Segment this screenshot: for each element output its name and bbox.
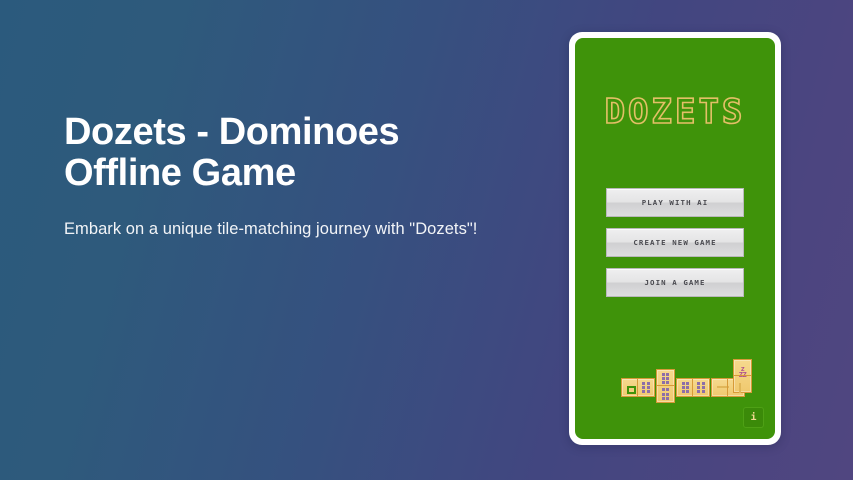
hero-section: Dozets - Dominoes Offline Game Embark on… bbox=[64, 112, 534, 239]
pip bbox=[686, 382, 689, 385]
pip bbox=[666, 373, 669, 376]
phone-mockup: DOZETS PLAY WITH AI CREATE NEW GAME JOIN… bbox=[569, 32, 781, 445]
pip bbox=[702, 386, 705, 389]
pip bbox=[697, 386, 700, 389]
page-subtitle: Embark on a unique tile-matching journey… bbox=[64, 220, 534, 239]
tile-half-blank bbox=[734, 375, 751, 392]
pip bbox=[686, 390, 689, 393]
pip bbox=[647, 386, 650, 389]
tile-half-six bbox=[637, 379, 654, 396]
pip bbox=[666, 397, 669, 400]
pip bbox=[702, 382, 705, 385]
pip bbox=[642, 386, 645, 389]
pip bbox=[686, 386, 689, 389]
pip bbox=[642, 390, 645, 393]
main-menu: PLAY WITH AI CREATE NEW GAME JOIN A GAME bbox=[606, 188, 744, 308]
pip bbox=[666, 381, 669, 384]
pip bbox=[702, 390, 705, 393]
pip bbox=[662, 377, 665, 380]
pip bbox=[666, 388, 669, 391]
blank-bar bbox=[739, 383, 741, 393]
pip bbox=[647, 390, 650, 393]
domino-tile-six-six bbox=[676, 378, 710, 397]
domino-tile-six-six-vertical bbox=[656, 369, 675, 403]
pip bbox=[697, 390, 700, 393]
tile-half-six bbox=[657, 385, 674, 402]
pip bbox=[666, 377, 669, 380]
pip bbox=[662, 381, 665, 384]
pip bbox=[697, 382, 700, 385]
pip bbox=[662, 397, 665, 400]
pip bbox=[642, 382, 645, 385]
create-new-game-button[interactable]: CREATE NEW GAME bbox=[606, 228, 744, 257]
tile-half-six bbox=[692, 379, 709, 396]
zz-symbol-icon: zZZ bbox=[739, 367, 746, 370]
pip bbox=[682, 390, 685, 393]
play-with-ai-button[interactable]: PLAY WITH AI bbox=[606, 188, 744, 217]
green-square-icon bbox=[627, 386, 636, 394]
pip bbox=[662, 393, 665, 396]
info-button[interactable]: i bbox=[743, 407, 764, 428]
app-logo: DOZETS bbox=[575, 92, 775, 132]
pip bbox=[662, 388, 665, 391]
pip bbox=[682, 382, 685, 385]
page-title: Dozets - Dominoes Offline Game bbox=[64, 112, 534, 193]
pip bbox=[682, 386, 685, 389]
pip bbox=[666, 393, 669, 396]
join-a-game-button[interactable]: JOIN A GAME bbox=[606, 268, 744, 297]
domino-tile-icon-six bbox=[621, 378, 655, 397]
domino-tile-zz: zZZ bbox=[733, 359, 752, 393]
pip bbox=[647, 382, 650, 385]
app-screen: DOZETS PLAY WITH AI CREATE NEW GAME JOIN… bbox=[575, 38, 775, 439]
domino-cluster: zZZ bbox=[621, 356, 756, 416]
pip bbox=[662, 373, 665, 376]
